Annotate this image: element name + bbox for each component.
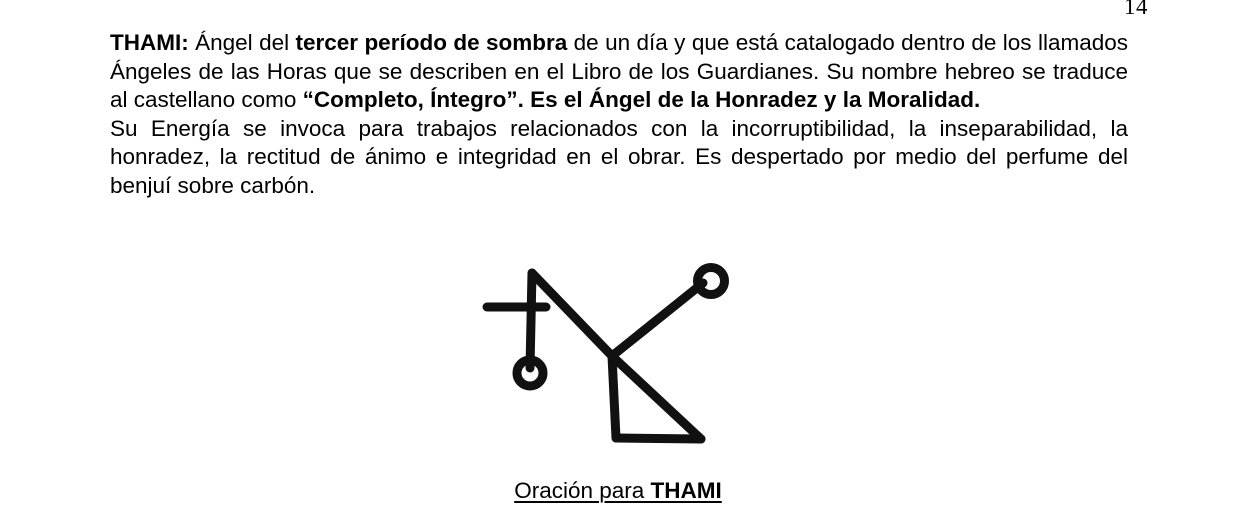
thami-sigil-figure xyxy=(460,240,780,472)
tercer-periodo-emphasis: tercer período de sombra xyxy=(296,30,568,55)
page-number: 14 xyxy=(1124,0,1148,20)
sigil-ring-lower-left xyxy=(517,360,543,386)
invocation-text: Su Energía se invoca para trabajos relac… xyxy=(110,116,1128,198)
paragraph-thami-definition: THAMI: Ángel del tercer período de sombr… xyxy=(110,29,1128,115)
thami-sigil-icon xyxy=(460,240,780,472)
definition-text-1: Ángel del xyxy=(189,30,296,55)
caption-angel-name: THAMI xyxy=(651,478,722,503)
thami-label: THAMI: xyxy=(110,30,189,55)
definition-emphasis-closing: “Completo, Íntegro”. Es el Ángel de la H… xyxy=(303,87,981,112)
caption-inner: Oración para THAMI xyxy=(514,477,722,505)
sigil-ring-upper-right xyxy=(698,268,725,295)
document-page: 14 THAMI: Ángel del tercer período de so… xyxy=(0,0,1236,532)
caption-prefix: Oración para xyxy=(514,478,650,503)
figure-caption: Oración para THAMI xyxy=(0,477,1236,505)
body-text-block: THAMI: Ángel del tercer período de sombr… xyxy=(110,29,1128,201)
paragraph-thami-invocation: Su Energía se invoca para trabajos relac… xyxy=(110,115,1128,201)
